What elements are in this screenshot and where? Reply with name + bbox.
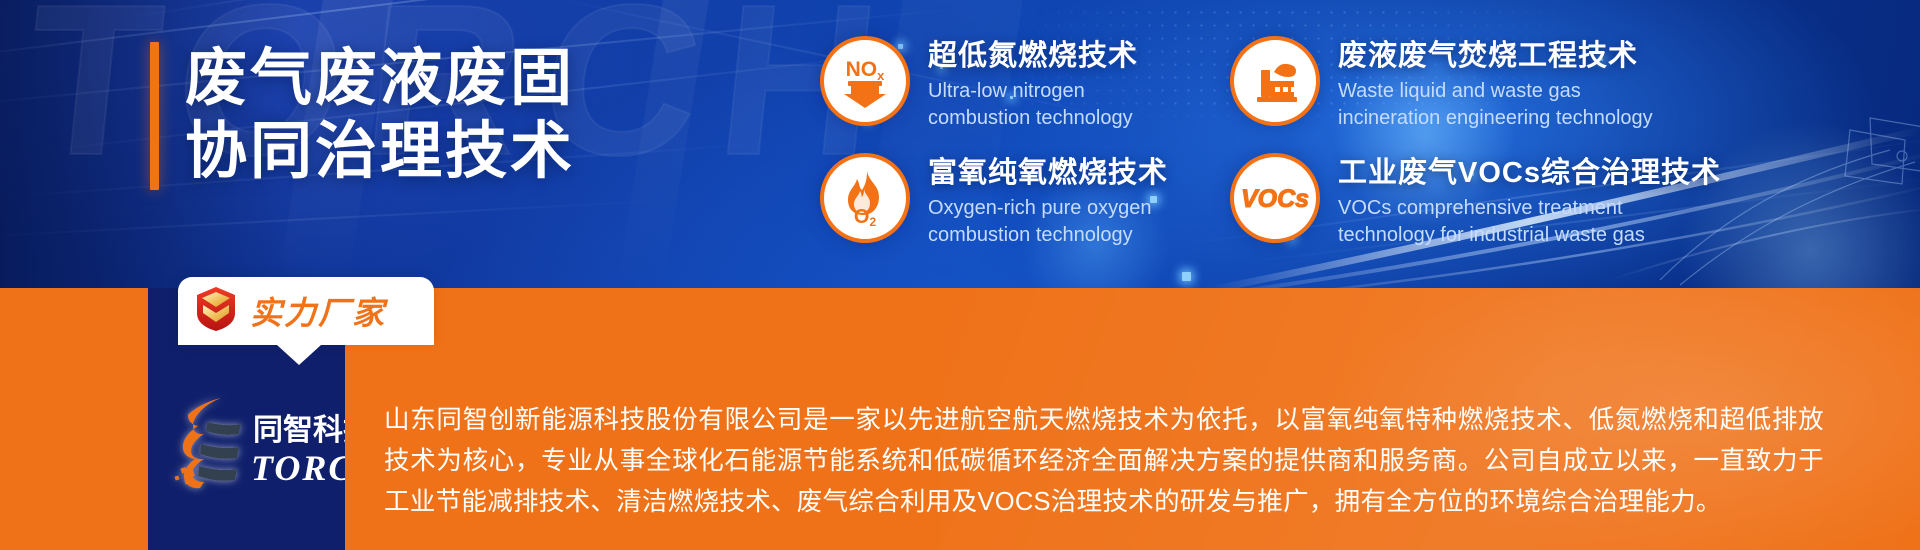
feature-title-en: VOCs comprehensive treatment technology … [1338,195,1721,248]
headline-text: 废气废液废固 协同治理技术 [185,42,575,190]
nox-down-arrow-icon: NOx [820,36,910,126]
hero-background: TORCH [0,0,1920,288]
torch-flame-logo-icon [174,398,241,488]
feature-item[interactable]: VOCs 工业废气VOCs综合治理技术 VOCs comprehensive t… [1230,153,1890,248]
feature-title-zh: 工业废气VOCs综合治理技术 [1338,155,1721,191]
factory-smokestack-icon [1230,36,1320,126]
promo-banner: TORCH [0,0,1920,550]
feature-title-zh: 超低氮燃烧技术 [928,38,1138,74]
headline-line-2: 协同治理技术 [185,115,575,188]
feature-title-en: Ultra-low nitrogen combustion technology [928,78,1138,131]
flame-o2-icon: O2 [820,153,910,243]
feature-title-en: Oxygen-rich pure oxygen combustion techn… [928,195,1168,248]
strength-badge-notch [277,345,321,365]
headline: 废气废液废固 协同治理技术 [150,42,575,190]
feature-grid: NOx 超低氮燃烧技术 Ultra-low nitrogen combustio… [820,36,1890,248]
company-logo[interactable]: 同智科技 TORCH [155,392,345,500]
feature-text: 超低氮燃烧技术 Ultra-low nitrogen combustion te… [928,36,1138,131]
company-description: 山东同智创新能源科技股份有限公司是一家以先进航空航天燃烧技术为依托，以富氧纯氧特… [384,400,1824,524]
feature-title-zh: 富氧纯氧燃烧技术 [928,155,1168,191]
feature-item[interactable]: NOx 超低氮燃烧技术 Ultra-low nitrogen combustio… [820,36,1200,131]
logo-name-zh: 同智科技 [253,414,345,447]
strength-badge[interactable]: 实力厂家 [178,277,434,345]
feature-text: 工业废气VOCs综合治理技术 VOCs comprehensive treatm… [1338,153,1721,248]
strength-badge-label: 实力厂家 [250,288,386,334]
svg-text:VOCs: VOCs [1241,185,1309,213]
shield-award-icon [194,286,238,337]
feature-title-en: Waste liquid and waste gas incineration … [1338,78,1653,131]
logo-name-en: TORCH [251,448,345,488]
feature-text: 废液废气焚烧工程技术 Waste liquid and waste gas in… [1338,36,1653,131]
vocs-text-icon: VOCs [1230,153,1320,243]
headline-accent-bar [150,42,159,190]
feature-title-zh: 废液废气焚烧工程技术 [1338,38,1653,74]
svg-text:NOx: NOx [846,58,886,83]
feature-item[interactable]: 废液废气焚烧工程技术 Waste liquid and waste gas in… [1230,36,1890,131]
feature-item[interactable]: O2 富氧纯氧燃烧技术 Oxygen-rich pure oxygen comb… [820,153,1200,248]
feature-text: 富氧纯氧燃烧技术 Oxygen-rich pure oxygen combust… [928,153,1168,248]
headline-line-1: 废气废液废固 [185,42,575,115]
